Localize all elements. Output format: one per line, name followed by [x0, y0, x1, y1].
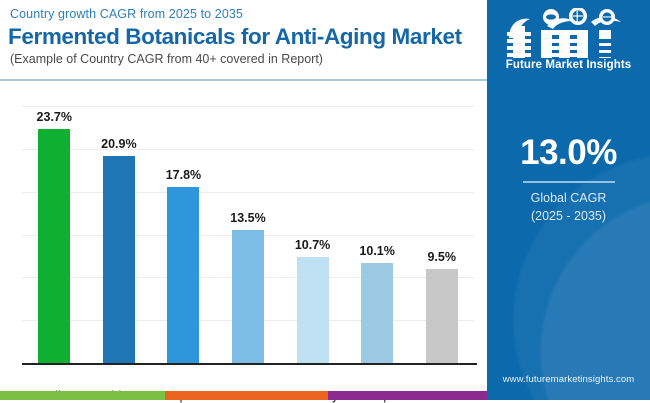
- bar: [297, 257, 329, 363]
- logo-tagline: Future Market Insights: [487, 59, 650, 71]
- accent-stripe-segment-1: [165, 391, 328, 400]
- bar-group: 10.7%Germany: [281, 106, 345, 363]
- global-cagr-value: 13.0%: [487, 133, 650, 173]
- page-title: Fermented Botanicals for Anti-Aging Mark…: [8, 24, 462, 50]
- bar-value-label: 10.1%: [359, 244, 394, 258]
- bar-chart: 23.7%India20.9%China17.8%Japan13.5%UK10.…: [0, 84, 487, 391]
- bar: [38, 129, 70, 363]
- accent-stripe: [0, 391, 487, 400]
- accent-stripe-segment-0: [0, 391, 165, 400]
- global-cagr-period: (2025 - 2035): [487, 209, 650, 223]
- brand-panel: Future Market Insights 13.0% Global CAGR…: [487, 0, 650, 400]
- bar-value-label: 13.5%: [230, 211, 265, 225]
- bar: [426, 269, 458, 363]
- accent-stripe-segment-2: [328, 391, 487, 400]
- bar: [232, 230, 264, 363]
- bar-group: 10.1%Europe: [345, 106, 409, 363]
- fmi-logo: Future Market Insights: [487, 8, 650, 76]
- fmi-logo-icon: [503, 8, 633, 60]
- header-divider: [0, 79, 487, 81]
- bar-group: 9.5%U.S.: [410, 106, 474, 363]
- header: Country growth CAGR from 2025 to 2035 Fe…: [0, 0, 487, 80]
- bar-group: 20.9%China: [87, 106, 151, 363]
- chart-panel: Country growth CAGR from 2025 to 2035 Fe…: [0, 0, 487, 400]
- website-url: www.futuremarketinsights.com: [487, 374, 650, 385]
- bar-value-label: 10.7%: [295, 238, 330, 252]
- x-axis-line: [22, 363, 477, 365]
- bar-group: 17.8%Japan: [151, 106, 215, 363]
- bar-value-label: 17.8%: [166, 168, 201, 182]
- plot-area: 23.7%India20.9%China17.8%Japan13.5%UK10.…: [22, 106, 474, 363]
- header-eyebrow: Country growth CAGR from 2025 to 2035: [10, 7, 243, 21]
- bar-value-label: 23.7%: [37, 110, 72, 124]
- bar-value-label: 9.5%: [427, 250, 456, 264]
- bar: [361, 263, 393, 363]
- bar: [167, 187, 199, 363]
- global-cagr-label: Global CAGR: [487, 191, 650, 205]
- bar-group: 13.5%UK: [216, 106, 280, 363]
- stat-divider: [523, 181, 615, 183]
- bar: [103, 156, 135, 363]
- bar-group: 23.7%India: [22, 106, 86, 363]
- header-subtitle: (Example of Country CAGR from 40+ covere…: [10, 52, 323, 66]
- bar-value-label: 20.9%: [101, 137, 136, 151]
